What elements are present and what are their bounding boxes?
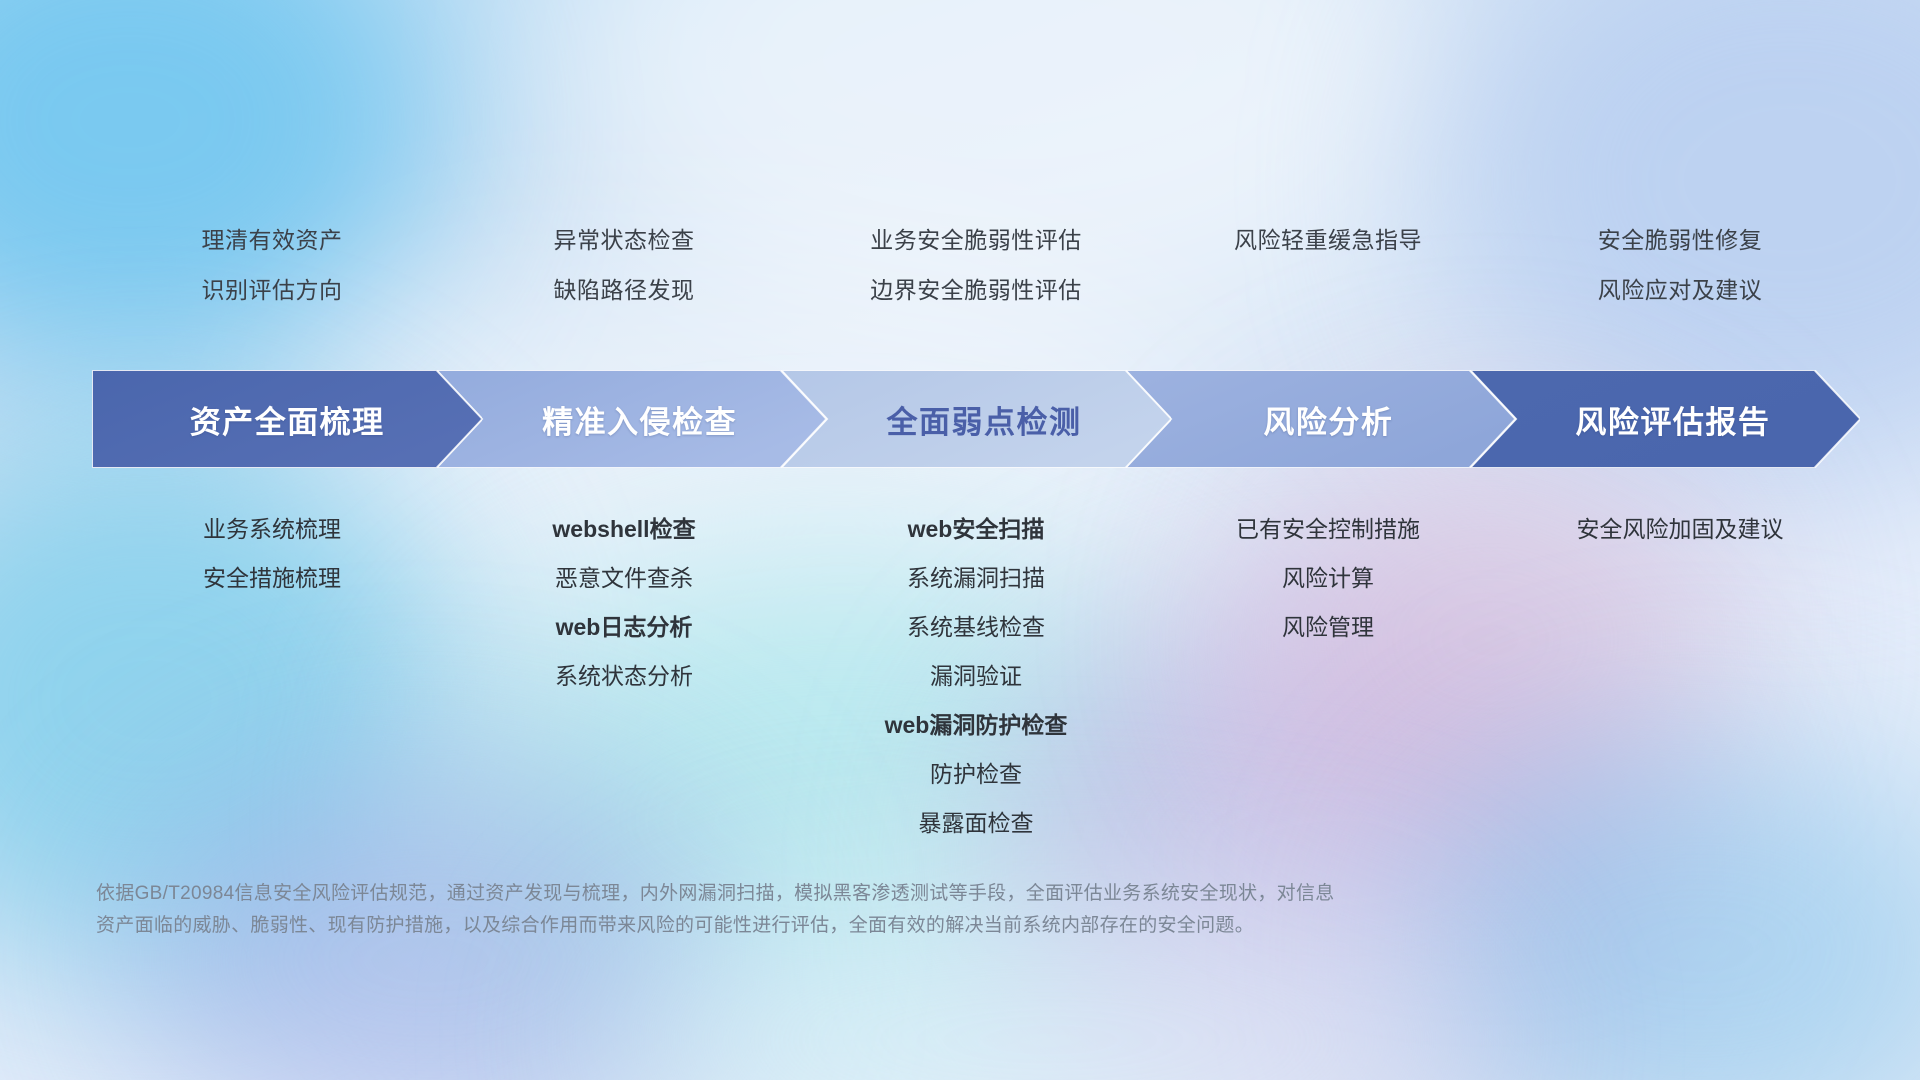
process-step-title: 风险评估报告 <box>1575 397 1770 442</box>
detail-list-item: 安全措施梳理 <box>102 554 442 603</box>
detail-list-item: web安全扫描 <box>806 505 1146 554</box>
detail-list-1: 业务系统梳理安全措施梳理 <box>96 505 448 603</box>
detail-list-5: 安全风险加固及建议 <box>1504 505 1856 554</box>
detail-list-item: 系统漏洞扫描 <box>806 554 1146 603</box>
top-note-line: 风险应对及建议 <box>1512 265 1848 315</box>
detail-list-item: 业务系统梳理 <box>102 505 442 554</box>
top-note-cell-4: 风险轻重缓急指导 <box>1152 215 1504 315</box>
top-note-cell-2: 异常状态检查缺陷路径发现 <box>448 215 800 315</box>
detail-list-item: web漏洞防护检查 <box>806 701 1146 750</box>
top-note-cell-5: 安全脆弱性修复风险应对及建议 <box>1504 215 1856 315</box>
top-note-line: 缺陷路径发现 <box>456 265 792 315</box>
process-step-2[interactable]: 精准入侵检查 <box>436 370 826 468</box>
footer-line-2: 资产面临的威胁、脆弱性、现有防护措施，以及综合作用而带来风险的可能性进行评估，全… <box>96 910 1656 942</box>
detail-list-item: 暴露面检查 <box>806 799 1146 848</box>
slide-canvas: 理清有效资产识别评估方向异常状态检查缺陷路径发现业务安全脆弱性评估边界安全脆弱性… <box>0 0 1920 1080</box>
process-step-title: 资产全面梳理 <box>190 397 385 442</box>
process-step-title: 风险分析 <box>1263 397 1393 442</box>
detail-list-item: web日志分析 <box>454 603 794 652</box>
detail-list-item: 风险计算 <box>1158 554 1498 603</box>
detail-list-item: 风险管理 <box>1158 603 1498 652</box>
top-note-line: 风险轻重缓急指导 <box>1160 215 1496 265</box>
detail-list-item: 已有安全控制措施 <box>1158 505 1498 554</box>
process-step-title: 精准入侵检查 <box>542 397 737 442</box>
top-note-line: 边界安全脆弱性评估 <box>808 265 1144 315</box>
top-note-line: 识别评估方向 <box>104 265 440 315</box>
detail-list-2: webshell检查恶意文件查杀web日志分析系统状态分析 <box>448 505 800 701</box>
detail-list-item: 安全风险加固及建议 <box>1510 505 1850 554</box>
process-step-5[interactable]: 风险评估报告 <box>1470 370 1860 468</box>
detail-list-item: 系统状态分析 <box>454 652 794 701</box>
detail-list-3: web安全扫描系统漏洞扫描系统基线检查漏洞验证web漏洞防护检查防护检查暴露面检… <box>800 505 1152 848</box>
detail-list-item: 系统基线检查 <box>806 603 1146 652</box>
footer-description: 依据GB/T20984信息安全风险评估规范，通过资产发现与梳理，内外网漏洞扫描，… <box>96 878 1656 942</box>
detail-list-4: 已有安全控制措施风险计算风险管理 <box>1152 505 1504 652</box>
detail-list-item: 漏洞验证 <box>806 652 1146 701</box>
top-note-line: 安全脆弱性修复 <box>1512 215 1848 265</box>
process-chevron-band: 资产全面梳理精准入侵检查全面弱点检测风险分析风险评估报告 <box>92 370 1860 468</box>
bottom-detail-lists: 业务系统梳理安全措施梳理webshell检查恶意文件查杀web日志分析系统状态分… <box>96 505 1856 848</box>
footer-line-1: 依据GB/T20984信息安全风险评估规范，通过资产发现与梳理，内外网漏洞扫描，… <box>96 878 1656 910</box>
process-step-1[interactable]: 资产全面梳理 <box>92 370 482 468</box>
top-note-line: 业务安全脆弱性评估 <box>808 215 1144 265</box>
top-note-line: 异常状态检查 <box>456 215 792 265</box>
process-step-title: 全面弱点检测 <box>887 397 1082 442</box>
detail-list-item: webshell检查 <box>454 505 794 554</box>
top-notes-row: 理清有效资产识别评估方向异常状态检查缺陷路径发现业务安全脆弱性评估边界安全脆弱性… <box>96 215 1856 315</box>
process-step-3[interactable]: 全面弱点检测 <box>781 370 1171 468</box>
process-step-4[interactable]: 风险分析 <box>1125 370 1515 468</box>
top-note-line: 理清有效资产 <box>104 215 440 265</box>
top-note-cell-1: 理清有效资产识别评估方向 <box>96 215 448 315</box>
detail-list-item: 恶意文件查杀 <box>454 554 794 603</box>
top-note-cell-3: 业务安全脆弱性评估边界安全脆弱性评估 <box>800 215 1152 315</box>
detail-list-item: 防护检查 <box>806 750 1146 799</box>
